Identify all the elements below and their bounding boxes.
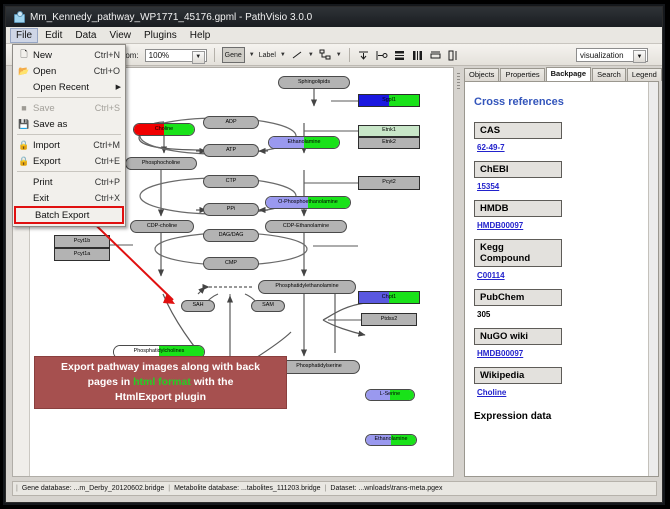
pathway-node-ctp[interactable]: CTP [203,175,259,188]
pathway-node-sgpl1[interactable]: Sgpl1 [358,94,420,107]
pathway-node-ptdetn[interactable]: Phosphatidylethanolamine [258,280,356,294]
pathway-node-cmp[interactable]: CMP [203,257,259,270]
menu-item-save[interactable]: ■ Save Ctrl+S [13,100,125,116]
spacer-icon-batch [17,209,35,222]
xref-header-kegg: Kegg Compound [474,239,562,267]
tab-legend[interactable]: Legend [627,68,662,81]
xref-value-kegg[interactable]: C00114 [477,271,649,280]
cross-references-heading: Cross references [474,96,649,108]
menu-item-open[interactable]: 📂 Open Ctrl+O [13,63,125,79]
xref-link-nugo[interactable]: HMDB00097 [477,349,523,358]
new-file-icon: 🗋 [15,49,33,62]
xref-value-nugo[interactable]: HMDB00097 [477,349,649,358]
match-height-icon[interactable] [447,48,461,62]
pathway-node-ethanolamine2[interactable]: Ethanolamine [365,434,417,446]
title-bar: Mm_Kennedy_pathway_WP1771_45176.gpml - P… [6,7,662,27]
panel-splitter[interactable] [456,67,462,477]
pathway-node-choline[interactable]: Choline [133,123,195,136]
status-separator-1: | [168,485,170,492]
gene-tool-button[interactable]: Gene [222,47,245,63]
node-label: Ethanolamine [375,437,408,442]
pathway-node-pcyt1a[interactable]: Pcyt1a [54,248,110,261]
open-folder-icon: 📂 [15,65,33,78]
node-label: O-Phosphoethanolamine [278,200,338,205]
menu-item-new[interactable]: 🗋 New Ctrl+N [13,47,125,63]
tab-properties[interactable]: Properties [500,68,544,81]
menu-plugins[interactable]: Plugins [138,28,183,43]
pathway-node-ptdss2[interactable]: Ptdss2 [361,313,417,326]
menu-item-open-label: Open [33,66,94,77]
xref-link-cas[interactable]: 62-49-7 [477,143,505,152]
menu-file[interactable]: File [10,28,38,43]
align-rows-icon[interactable] [393,48,407,62]
menu-separator-3 [17,171,121,172]
menu-separator-1 [17,97,121,98]
menu-item-save-as[interactable]: 💾 Save as [13,116,125,132]
xref-link-hmdb[interactable]: HMDB00097 [477,221,523,230]
xref-value-hmdb[interactable]: HMDB00097 [477,221,649,230]
shape-tool-icon[interactable] [318,48,332,62]
align-top-icon[interactable] [357,48,371,62]
menu-edit[interactable]: Edit [39,28,68,43]
menu-item-print[interactable]: Print Ctrl+P [13,174,125,190]
save-as-icon: 💾 [15,118,33,131]
menu-item-import[interactable]: 🔒 Import Ctrl+M [13,137,125,153]
pathway-node-sam[interactable]: SAM [251,300,285,312]
pathway-node-sah[interactable]: SAH [181,300,215,312]
callout-highlight: html format [133,376,191,388]
status-gene-database: Gene database: ...m_Derby_20120602.bridg… [22,485,164,492]
callout-line2-b: with the [191,376,234,388]
xref-link-wikipedia[interactable]: Choline [477,388,506,397]
node-label: Ethanolamine [288,140,321,145]
pathway-node-ptdserine[interactable]: Phosphatidylserine [278,360,360,374]
pathway-node-adp[interactable]: ADP [203,116,259,129]
menu-item-print-label: Print [33,177,95,188]
menu-item-save-as-label: Save as [33,119,120,130]
menu-item-import-label: Import [33,140,93,151]
pathway-node-sphingolipids[interactable]: Sphingolipids [278,76,350,89]
tab-search[interactable]: Search [592,68,626,81]
xref-value-wikipedia[interactable]: Choline [477,388,649,397]
pathway-node-ophosphoetn[interactable]: O-Phosphoethanolamine [265,196,351,209]
menu-item-batch-export[interactable]: Batch Export [15,207,123,223]
menu-separator-2 [17,134,121,135]
pathway-node-etnk2[interactable]: Etnk2 [358,137,420,149]
menu-item-exit[interactable]: Exit Ctrl+X [13,190,125,206]
match-width-icon[interactable] [429,48,443,62]
xref-header-chebi: ChEBI [474,161,562,178]
side-panel: Objects Properties Backpage Search Legen… [464,67,659,477]
side-panel-scrollbar[interactable] [648,82,658,476]
pathway-node-lserine[interactable]: L-Serine [365,389,415,401]
callout-line3: HtmlExport plugin [115,391,206,403]
label-tool-button[interactable]: Label [259,48,276,62]
status-separator-0: | [16,485,18,492]
menu-bar: File Edit Data View Plugins Help [6,27,662,44]
menu-item-new-accel: Ctrl+N [94,50,125,60]
window-title: Mm_Kennedy_pathway_WP1771_45176.gpml - P… [30,12,312,23]
chevron-right-icon: ▶ [116,83,125,91]
pathvisio-app-icon [13,11,25,23]
callout-line1: Export pathway images along with back [61,361,260,373]
xref-header-pubchem: PubChem [474,289,562,306]
menu-item-import-accel: Ctrl+M [93,140,125,150]
menu-item-save-accel: Ctrl+S [95,103,125,113]
zoom-combobox[interactable]: 100% ▼ [145,49,207,62]
annotation-callout: Export pathway images along with back pa… [34,356,287,409]
node-label: Choline [155,127,173,132]
pathway-node-cdpetn[interactable]: CDP-Ethanolamine [265,220,347,233]
side-panel-tabs: Objects Properties Backpage Search Legen… [464,67,659,81]
menu-help[interactable]: Help [184,28,217,43]
xref-header-wikipedia: Wikipedia [474,367,562,384]
expression-data-heading: Expression data [474,411,649,422]
status-dataset: Dataset: ...wnloads\trans-meta.pgex [330,485,442,492]
menu-item-export-label: Export [33,156,95,167]
xref-header-nugo: NuGO wiki [474,328,562,345]
menu-view[interactable]: View [103,28,137,43]
chevron-down-icon-visualization[interactable]: ▼ [633,50,646,63]
align-left-icon[interactable] [375,48,389,62]
menu-item-print-accel: Ctrl+P [95,177,125,187]
menu-item-new-label: New [33,50,94,61]
toolbar-separator-2 [349,48,350,62]
menu-item-open-recent-label: Open Recent [33,82,116,93]
pathway-node-chpt1[interactable]: Chpt1 [358,291,420,304]
pathway-node-dagdag[interactable]: DAG/DAG [203,229,259,242]
backpage-content: Cross references CAS 62-49-7 ChEBI 15354… [464,81,659,477]
pathway-node-cdpcholine[interactable]: CDP-choline [130,220,194,233]
node-label: L-Serine [380,392,400,397]
node-label: Phosphatidylcholines [134,349,185,354]
zoom-value: 100% [149,51,169,60]
menu-item-export-accel: Ctrl+E [95,156,125,166]
xref-value-pubchem: 305 [477,310,649,319]
application-window: Mm_Kennedy_pathway_WP1771_45176.gpml - P… [5,6,663,503]
splitter-grip-icon [457,73,460,91]
pathway-node-etnk1[interactable]: Etnk1 [358,125,420,137]
pathway-node-pcyt1b[interactable]: Pcyt1b [54,235,110,248]
menu-data[interactable]: Data [69,28,102,43]
menu-item-export[interactable]: 🔒 Export Ctrl+E [13,153,125,169]
menu-item-open-accel: Ctrl+O [94,66,125,76]
gene-dropdown-icon[interactable]: ▼ [249,52,255,58]
tab-backpage[interactable]: Backpage [546,67,591,81]
xref-header-cas: CAS [474,122,562,139]
spacer-icon-print [15,176,33,189]
menu-item-exit-label: Exit [33,193,95,204]
pathway-node-pcyt2[interactable]: Pcyt2 [358,176,420,190]
label-dropdown-icon[interactable]: ▼ [280,52,286,58]
spacer-icon-exit [15,192,33,205]
visualization-value: visualization [580,51,624,60]
export-icon: 🔒 [15,155,33,168]
xref-value-cas[interactable]: 62-49-7 [477,143,649,152]
chevron-down-icon[interactable]: ▼ [192,51,205,64]
menu-item-batch-export-label: Batch Export [35,210,123,221]
shape-dropdown-icon[interactable]: ▼ [336,52,342,58]
xref-header-hmdb: HMDB [474,200,562,217]
screenshot-root: Mm_Kennedy_pathway_WP1771_45176.gpml - P… [0,0,670,509]
pathway-node-atp[interactable]: ATP [203,144,259,157]
save-disk-icon: ■ [15,102,33,115]
pathway-node-phosphocholine[interactable]: Phosphocholine [125,157,197,170]
xref-link-kegg[interactable]: C00114 [477,271,505,280]
status-metabolite-database: Metabolite database: ...tabolites_111203… [174,485,320,492]
menu-item-open-recent[interactable]: Open Recent ▶ [13,79,125,95]
xref-link-chebi[interactable]: 15354 [477,182,499,191]
visualization-combobox[interactable]: visualization ▼ [576,48,648,62]
menu-item-exit-accel: Ctrl+X [95,193,125,203]
spacer-icon [15,81,33,94]
tab-objects[interactable]: Objects [464,68,499,81]
line-dropdown-icon[interactable]: ▼ [308,52,314,58]
node-label: Sgpl1 [382,98,396,103]
node-label: Chpt1 [382,295,396,300]
line-tool-icon[interactable] [290,48,304,62]
file-menu-popup[interactable]: 🗋 New Ctrl+N 📂 Open Ctrl+O Open Recent ▶… [12,44,126,227]
callout-line2-a: pages in [88,376,134,388]
status-bar: | Gene database: ...m_Derby_20120602.bri… [12,481,657,496]
align-columns-icon[interactable] [411,48,425,62]
pathway-node-ethanolamine1[interactable]: Ethanolamine [268,136,340,149]
pathway-node-ppi[interactable]: PPi [203,203,259,216]
menu-item-save-label: Save [33,103,95,114]
status-separator-2: | [325,485,327,492]
import-icon: 🔒 [15,139,33,152]
xref-value-chebi[interactable]: 15354 [477,182,649,191]
toolbar-separator [214,48,215,62]
